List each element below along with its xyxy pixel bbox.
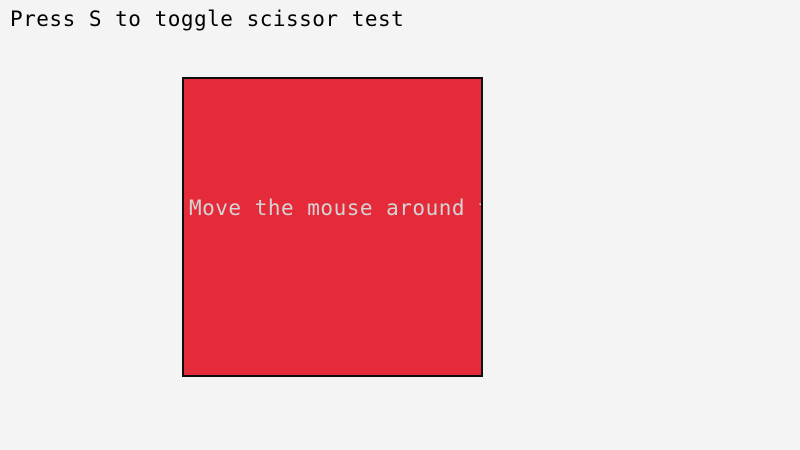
app-canvas: Press S to toggle scissor test Move the … [0, 0, 800, 450]
scissor-toggle-hint: Press S to toggle scissor test [10, 7, 404, 31]
scissor-clipped-message: Move the mouse around to reveal this tex… [189, 196, 483, 220]
scissor-region[interactable]: Move the mouse around to reveal this tex… [182, 77, 483, 377]
